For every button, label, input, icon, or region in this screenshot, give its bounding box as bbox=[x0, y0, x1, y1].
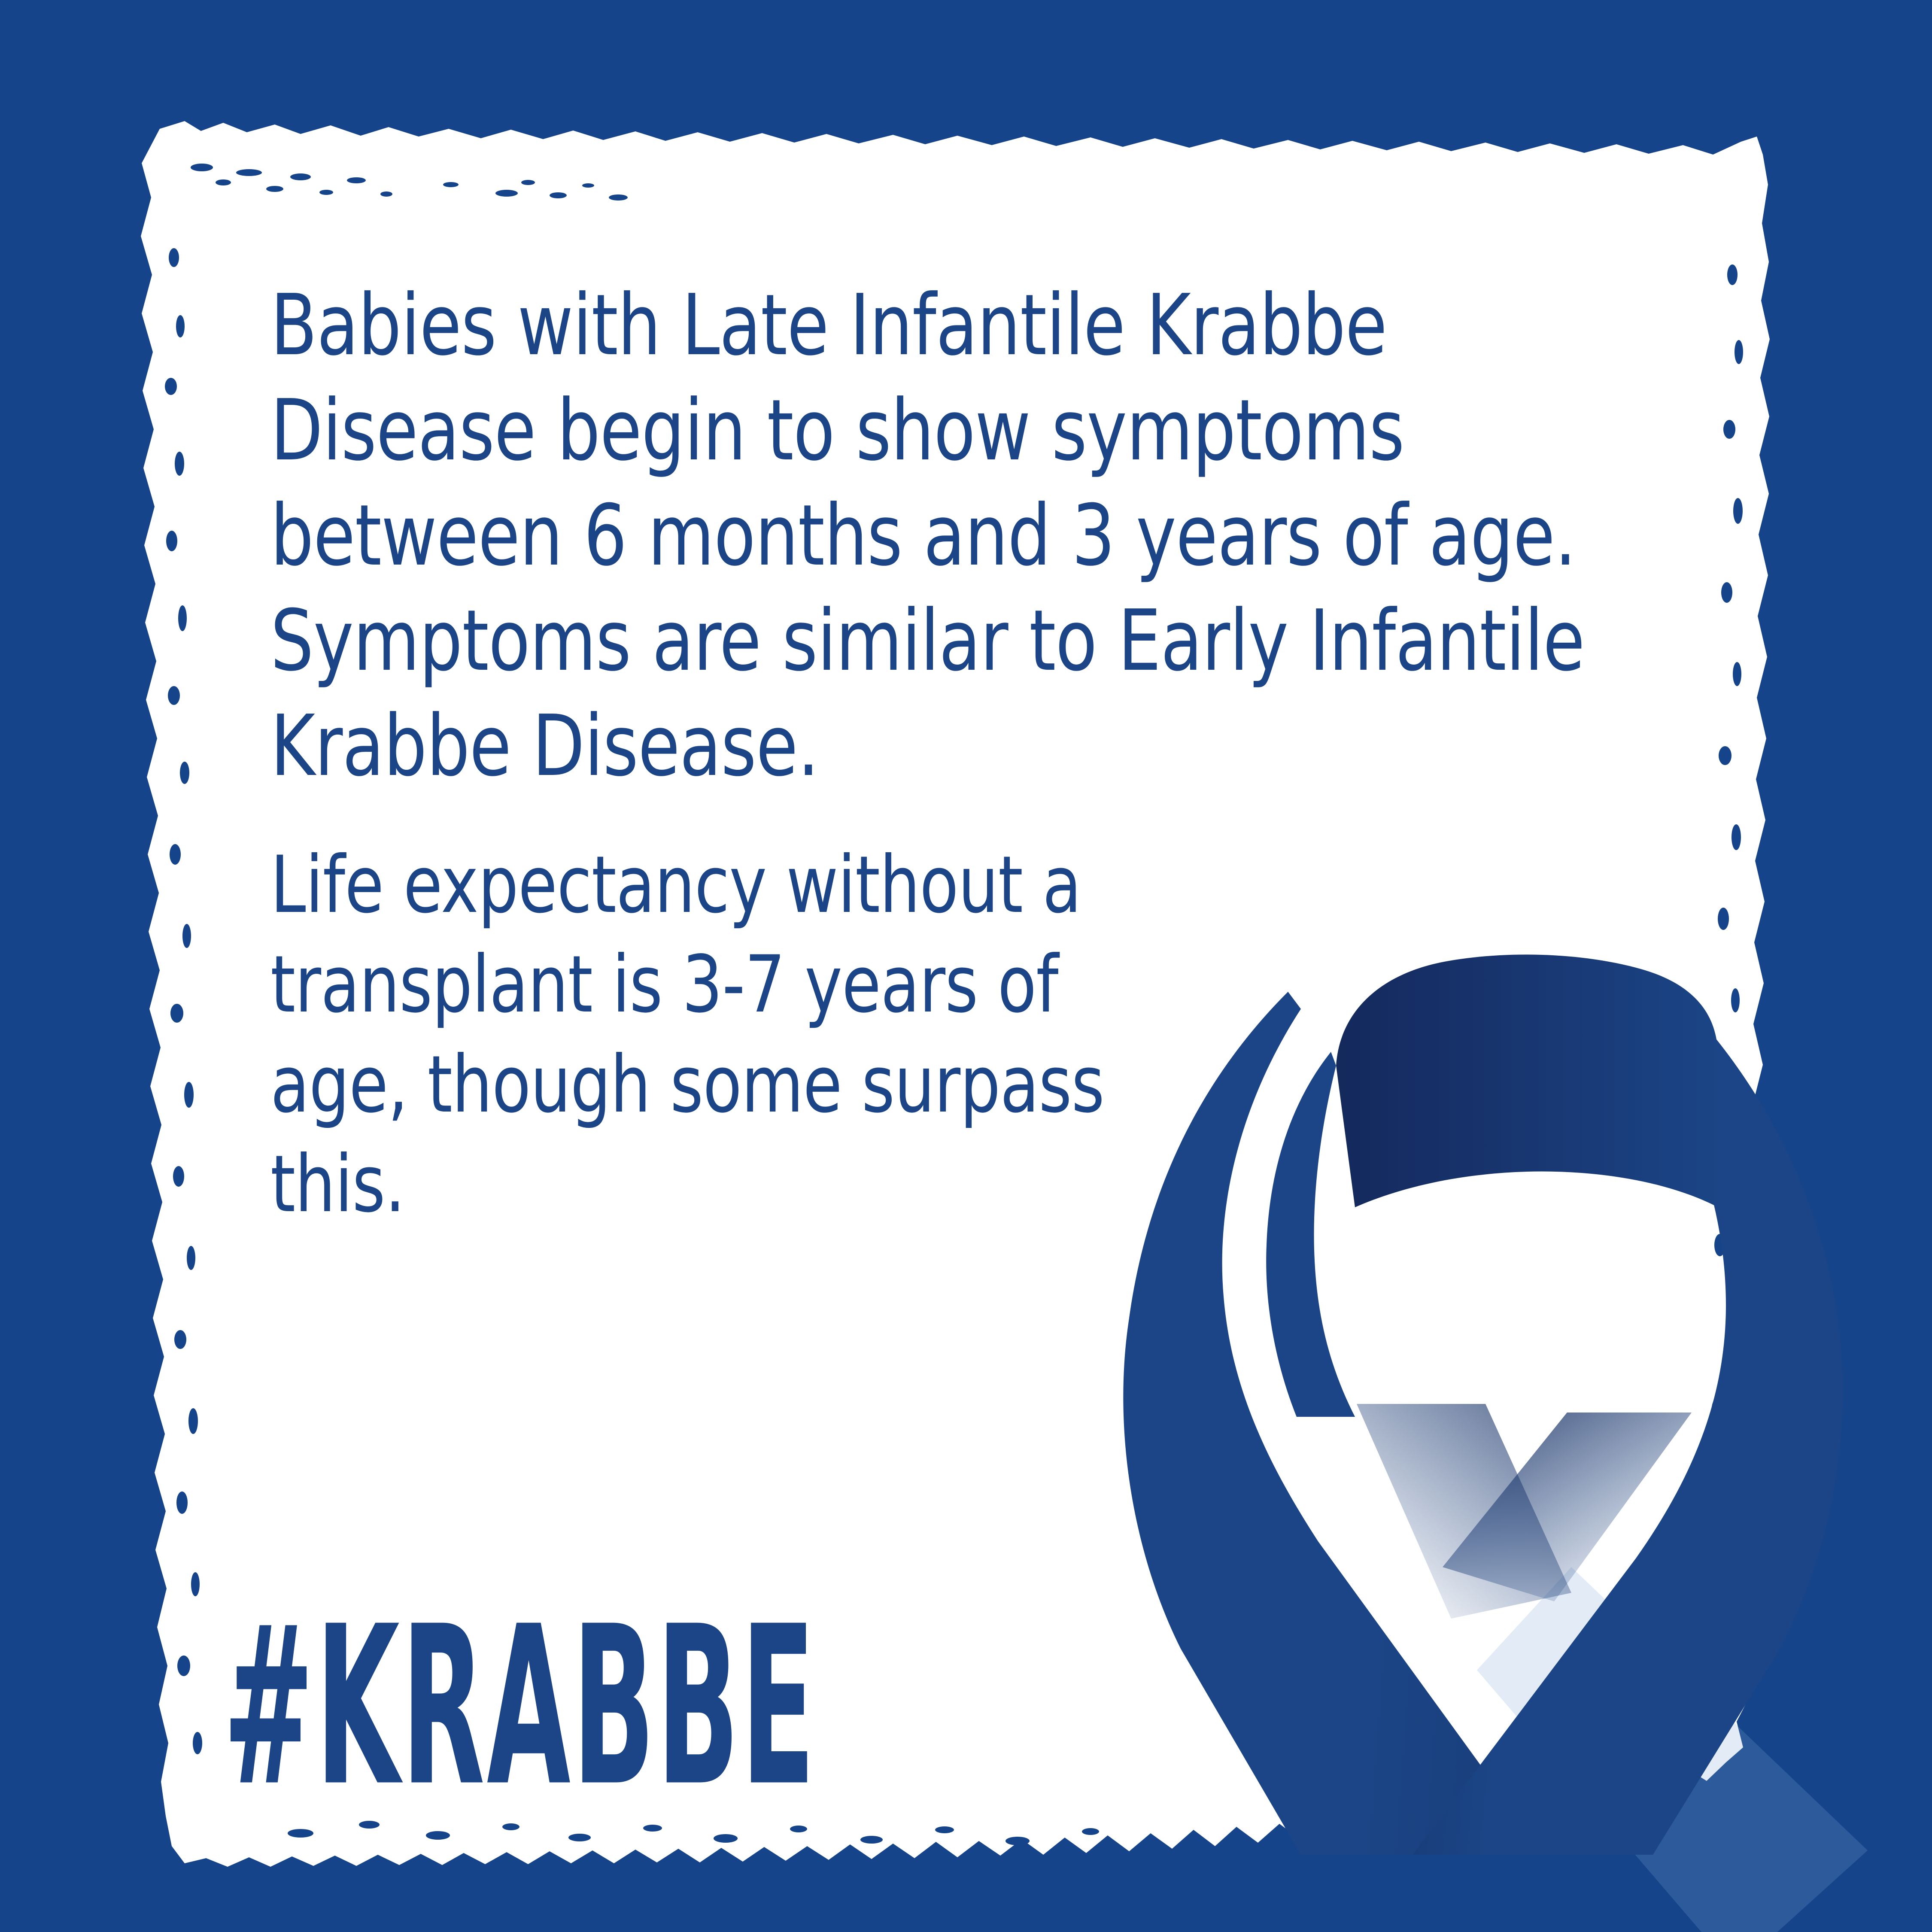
hashtag-krabbe: #KRABBE bbox=[223, 1597, 817, 1816]
poster: Babies with Late Infantile Krabbe Diseas… bbox=[0, 0, 1932, 1932]
paragraph-life-expectancy: Life expectancy without a transplant is … bbox=[270, 835, 1206, 1235]
paragraph-symptoms: Babies with Late Infantile Krabbe Diseas… bbox=[270, 273, 1596, 799]
body-text-column: Babies with Late Infantile Krabbe Diseas… bbox=[270, 273, 1610, 1235]
